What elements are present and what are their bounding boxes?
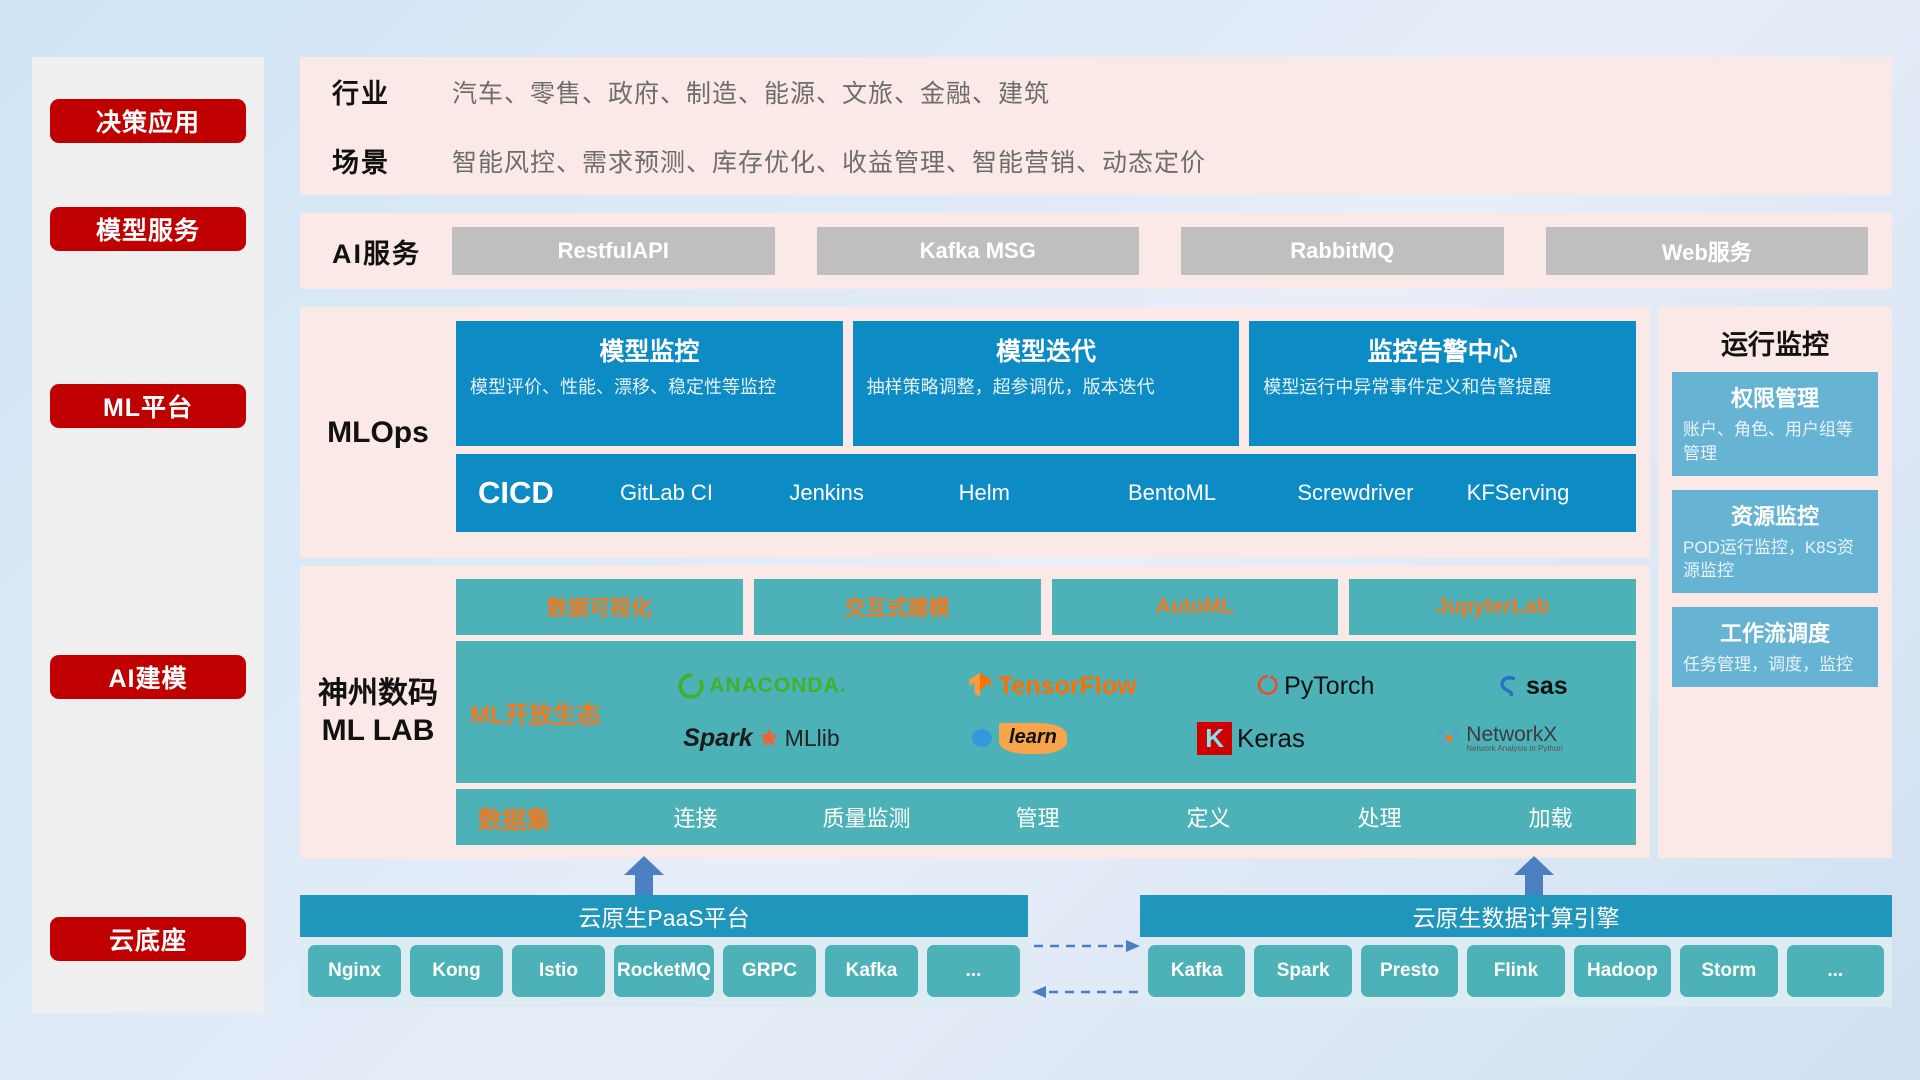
lab-tool-interactive-modeling[interactable]: 交互式建模 <box>754 579 1041 635</box>
data-chip-spark[interactable]: Spark <box>1254 945 1351 997</box>
monitoring-card-resource[interactable]: 资源监控 POD运行监控，K8S资源监控 <box>1672 490 1878 594</box>
cicd-title: CICD <box>478 475 620 511</box>
bidirectional-link-arrows-icon <box>1030 930 1142 1010</box>
rail-chip-decision-app[interactable]: 决策应用 <box>50 99 246 143</box>
ml-open-ecosystem: ML开放生态 ANACONDA. <box>456 641 1636 783</box>
mlops-label: MLOps <box>300 307 456 558</box>
layer-rail: 决策应用 模型服务 ML平台 AI建模 云底座 <box>32 57 264 1013</box>
cloud-native-paas-group: 云原生PaaS平台 Nginx Kong Istio RocketMQ GRPC… <box>300 895 1028 1007</box>
cicd-item-bentoml[interactable]: BentoML <box>1128 480 1297 506</box>
scikit-blob-icon <box>970 726 994 750</box>
dataset-item-manage[interactable]: 管理 <box>952 801 1123 833</box>
cloud-chip-grpc[interactable]: GRPC <box>723 945 816 997</box>
ml-lab-label-line2: ML LAB <box>318 712 438 750</box>
card-title: 资源监控 <box>1683 499 1867 531</box>
cloud-chip-kong[interactable]: Kong <box>410 945 503 997</box>
dataset-bar: 数据集 连接 质量监测 管理 定义 处理 加载 <box>456 789 1636 845</box>
networkx-logo-text: NetworkXNetwork Analysis in Python <box>1466 724 1563 753</box>
mlops-card-list: 模型监控 模型评价、性能、漂移、稳定性等监控 模型迭代 抽样策略调整，超参调优，… <box>456 321 1636 446</box>
card-desc: 模型评价、性能、漂移、稳定性等监控 <box>470 375 829 400</box>
scikit-learn-logo-text: learn <box>999 723 1067 754</box>
cicd-item-kfserving[interactable]: KFServing <box>1467 480 1636 506</box>
mlops-card-model-monitoring[interactable]: 模型监控 模型评价、性能、漂移、稳定性等监控 <box>456 321 843 446</box>
data-chip-kafka[interactable]: Kafka <box>1148 945 1245 997</box>
mllib-logo-text: MLlib <box>785 725 840 752</box>
cicd-item-helm[interactable]: Helm <box>959 480 1128 506</box>
dataset-item-quality[interactable]: 质量监测 <box>781 801 952 833</box>
cicd-item-list: GitLab CI Jenkins Helm BentoML Screwdriv… <box>620 480 1636 506</box>
ml-lab-label: 神州数码 ML LAB <box>300 566 456 858</box>
cicd-item-jenkins[interactable]: Jenkins <box>789 480 958 506</box>
pytorch-logo: PyTorch <box>1257 672 1374 701</box>
keras-logo: K Keras <box>1197 722 1305 755</box>
up-arrow-icon-data-engine <box>1512 856 1556 898</box>
spark-mllib-logo: Spark MLlib <box>683 724 839 753</box>
sas-logo: sas <box>1495 672 1568 701</box>
cloud-paas-chip-list: Nginx Kong Istio RocketMQ GRPC Kafka ... <box>300 937 1028 1007</box>
keras-k-icon: K <box>1197 722 1232 755</box>
cloud-chip-more[interactable]: ... <box>927 945 1020 997</box>
card-title: 模型监控 <box>470 332 829 368</box>
cloud-chip-istio[interactable]: Istio <box>512 945 605 997</box>
cloud-chip-kafka[interactable]: Kafka <box>825 945 918 997</box>
industry-row: 行业 汽车、零售、政府、制造、能源、文旅、金融、建筑 <box>300 57 1892 126</box>
cloud-data-engine-chip-list: Kafka Spark Presto Flink Hadoop Storm ..… <box>1140 937 1892 1007</box>
cloud-paas-title: 云原生PaaS平台 <box>300 895 1028 937</box>
networkx-icon <box>1435 726 1461 750</box>
scenario-values: 智能风控、需求预测、库存优化、收益管理、智能营销、动态定价 <box>452 143 1206 179</box>
ml-lab-band: 神州数码 ML LAB 数据可视化 交互式建模 AutoML JupyterLa… <box>300 566 1650 858</box>
sas-icon <box>1495 673 1521 699</box>
service-chip-rabbitmq[interactable]: RabbitMQ <box>1181 227 1504 275</box>
cicd-item-gitlab-ci[interactable]: GitLab CI <box>620 480 789 506</box>
lab-tool-jupyterlab[interactable]: JupyterLab <box>1349 579 1636 635</box>
scikit-learn-logo: learn <box>970 723 1067 754</box>
service-chip-restfulapi[interactable]: RestfulAPI <box>452 227 775 275</box>
mlops-band: MLOps 模型监控 模型评价、性能、漂移、稳定性等监控 模型迭代 抽样策略调整… <box>300 307 1650 558</box>
monitoring-column: 运行监控 权限管理 账户、角色、用户组等管理 资源监控 POD运行监控，K8S资… <box>1658 307 1892 858</box>
up-arrow-icon-paas <box>622 856 666 898</box>
rail-chip-ml-platform[interactable]: ML平台 <box>50 384 246 428</box>
card-desc: 模型运行中异常事件定义和告警提醒 <box>1263 375 1622 400</box>
ml-lab-label-line1: 神州数码 <box>318 675 438 713</box>
spark-logo-text: Spark <box>683 724 752 753</box>
monitoring-card-permission[interactable]: 权限管理 账户、角色、用户组等管理 <box>1672 372 1878 476</box>
mlops-card-model-iteration[interactable]: 模型迭代 抽样策略调整，超参调优，版本迭代 <box>853 321 1240 446</box>
lab-tool-automl[interactable]: AutoML <box>1052 579 1339 635</box>
dataset-item-list: 连接 质量监测 管理 定义 处理 加载 <box>610 801 1636 833</box>
industry-values: 汽车、零售、政府、制造、能源、文旅、金融、建筑 <box>452 74 1050 110</box>
networkx-logo: NetworkXNetwork Analysis in Python <box>1435 724 1563 753</box>
data-chip-flink[interactable]: Flink <box>1467 945 1564 997</box>
scenario-row: 场景 智能风控、需求预测、库存优化、收益管理、智能营销、动态定价 <box>300 126 1892 195</box>
dataset-item-define[interactable]: 定义 <box>1123 801 1294 833</box>
ml-lab-tool-list: 数据可视化 交互式建模 AutoML JupyterLab <box>456 579 1636 635</box>
cicd-item-screwdriver[interactable]: Screwdriver <box>1297 480 1466 506</box>
anaconda-icon <box>678 673 704 699</box>
monitoring-title: 运行监控 <box>1658 307 1892 372</box>
sas-logo-text: sas <box>1526 672 1568 701</box>
scenario-label: 场景 <box>332 141 452 180</box>
data-chip-more[interactable]: ... <box>1787 945 1884 997</box>
cicd-bar: CICD GitLab CI Jenkins Helm BentoML Scre… <box>456 454 1636 532</box>
lab-tool-data-visualization[interactable]: 数据可视化 <box>456 579 743 635</box>
anaconda-logo-text: ANACONDA. <box>709 674 846 698</box>
ml-open-ecosystem-title: ML开放生态 <box>470 695 618 730</box>
rail-chip-ai-modeling[interactable]: AI建模 <box>50 655 246 699</box>
card-desc: POD运行监控，K8S资源监控 <box>1683 536 1867 584</box>
tensorflow-icon <box>967 672 993 700</box>
architecture-diagram: 决策应用 模型服务 ML平台 AI建模 云底座 行业 汽车、零售、政府、制造、能… <box>0 0 1920 1080</box>
card-title: 监控告警中心 <box>1263 332 1622 368</box>
mlops-card-alert-center[interactable]: 监控告警中心 模型运行中异常事件定义和告警提醒 <box>1249 321 1636 446</box>
card-title: 模型迭代 <box>867 332 1226 368</box>
cloud-chip-rocketmq[interactable]: RocketMQ <box>614 945 714 997</box>
card-title: 工作流调度 <box>1683 616 1867 648</box>
service-chip-web[interactable]: Web服务 <box>1546 227 1869 275</box>
keras-logo-text: Keras <box>1237 723 1305 754</box>
monitoring-card-workflow[interactable]: 工作流调度 任务管理，调度，监控 <box>1672 607 1878 687</box>
dataset-title: 数据集 <box>478 800 610 835</box>
ai-service-band: AI服务 RestfulAPI Kafka MSG RabbitMQ Web服务 <box>300 213 1892 289</box>
cloud-native-data-engine-group: 云原生数据计算引擎 Kafka Spark Presto Flink Hadoo… <box>1140 895 1892 1007</box>
pytorch-logo-text: PyTorch <box>1284 672 1374 701</box>
dataset-item-load[interactable]: 加载 <box>1465 801 1636 833</box>
card-desc: 账户、角色、用户组等管理 <box>1683 418 1867 466</box>
rail-chip-cloud-base[interactable]: 云底座 <box>50 917 246 961</box>
card-desc: 抽样策略调整，超参调优，版本迭代 <box>867 375 1226 400</box>
spark-star-icon <box>758 727 780 749</box>
service-chip-kafka-msg[interactable]: Kafka MSG <box>817 227 1140 275</box>
card-desc: 任务管理，调度，监控 <box>1683 653 1867 677</box>
ai-service-chip-list: RestfulAPI Kafka MSG RabbitMQ Web服务 <box>452 227 1892 275</box>
data-chip-hadoop[interactable]: Hadoop <box>1574 945 1671 997</box>
tensorflow-logo: TensorFlow <box>967 672 1136 701</box>
dataset-item-connect[interactable]: 连接 <box>610 801 781 833</box>
anaconda-logo: ANACONDA. <box>678 673 846 699</box>
rail-chip-model-service[interactable]: 模型服务 <box>50 207 246 251</box>
dataset-item-process[interactable]: 处理 <box>1294 801 1465 833</box>
industry-label: 行业 <box>332 72 452 111</box>
data-chip-presto[interactable]: Presto <box>1361 945 1458 997</box>
card-title: 权限管理 <box>1683 381 1867 413</box>
cloud-chip-nginx[interactable]: Nginx <box>308 945 401 997</box>
cloud-data-engine-title: 云原生数据计算引擎 <box>1140 895 1892 937</box>
application-band: 行业 汽车、零售、政府、制造、能源、文旅、金融、建筑 场景 智能风控、需求预测、… <box>300 57 1892 195</box>
data-chip-storm[interactable]: Storm <box>1680 945 1777 997</box>
tensorflow-logo-text: TensorFlow <box>998 672 1136 701</box>
ai-service-label: AI服务 <box>332 232 452 271</box>
pytorch-icon <box>1257 673 1279 699</box>
